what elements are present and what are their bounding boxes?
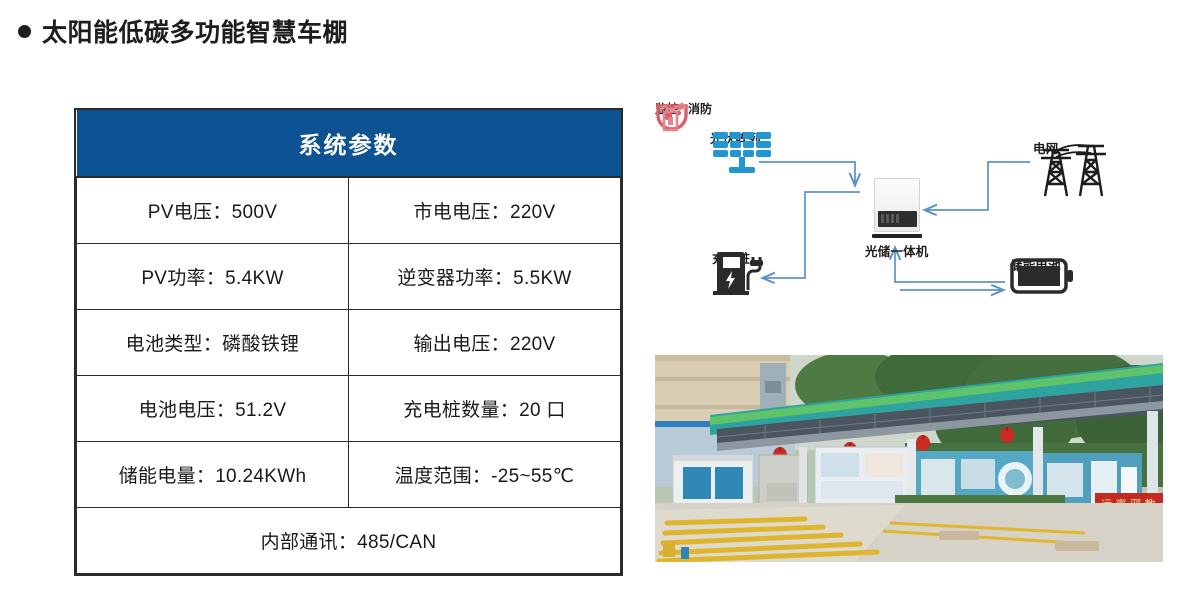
battery-icon xyxy=(1010,255,1076,297)
diagram-label-inverter: 光储一体机 xyxy=(865,241,929,260)
diagram-node-grid: 电网 xyxy=(1033,138,1058,157)
spec-battery-voltage: 电池电压：51.2V xyxy=(77,376,349,442)
power-tower-icon xyxy=(1033,138,1107,204)
diagram-node-solar-array: 光伏阵列 xyxy=(710,128,761,147)
carport-photo: 远 离 邪 教 xyxy=(655,355,1163,562)
system-architecture-diagram: 光伏阵列 监控 消防 xyxy=(655,100,1165,345)
table-header-title: 系统参数 xyxy=(77,110,621,177)
hybrid-inverter-icon xyxy=(874,178,920,232)
filled-circle-bullet-icon xyxy=(18,25,31,38)
ev-charging-pile-icon xyxy=(712,248,766,298)
spec-grid-voltage: 市电电压：220V xyxy=(349,177,621,244)
system-parameters-table: 系统参数 PV电压：500V 市电电压：220V PV功率：5.4KW 逆变器功… xyxy=(74,108,623,576)
table-row: 储能电量：10.24KWh 温度范围：-25~55℃ xyxy=(77,442,621,508)
inverter-display xyxy=(878,211,917,227)
diagram-node-inverter: 光储一体机 xyxy=(865,178,929,260)
page-title-text: 太阳能低碳多功能智慧车棚 xyxy=(42,13,348,49)
table-row: PV功率：5.4KW 逆变器功率：5.5KW xyxy=(77,244,621,310)
page-title: 太阳能低碳多功能智慧车棚 xyxy=(18,13,348,49)
table-row: 电池类型：磷酸铁锂 输出电压：220V xyxy=(77,310,621,376)
spec-temperature-range: 温度范围：-25~55℃ xyxy=(349,442,621,508)
spec-pv-voltage: PV电压：500V xyxy=(77,177,349,244)
spec-battery-type: 电池类型：磷酸铁锂 xyxy=(77,310,349,376)
table-row: 内部通讯：485/CAN xyxy=(77,508,621,574)
spec-output-voltage: 输出电压：220V xyxy=(349,310,621,376)
solar-panel-icon xyxy=(710,128,774,176)
spec-pv-power: PV功率：5.4KW xyxy=(77,244,349,310)
spec-internal-communication: 内部通讯：485/CAN xyxy=(77,508,621,574)
diagram-node-charging-pile: 充电桩 xyxy=(712,248,750,267)
fire-extinguisher-icon xyxy=(655,100,687,133)
spec-storage-capacity: 储能电量：10.24KWh xyxy=(77,442,349,508)
table-row: PV电压：500V 市电电压：220V xyxy=(77,177,621,244)
carport-photo-image: 远 离 邪 教 xyxy=(655,355,1163,562)
inverter-base xyxy=(872,234,922,238)
spec-charger-count: 充电桩数量：20 口 xyxy=(349,376,621,442)
table-header-row: 系统参数 xyxy=(77,110,621,177)
spec-inverter-power: 逆变器功率：5.5KW xyxy=(349,244,621,310)
table-row: 电池电压：51.2V 充电桩数量：20 口 xyxy=(77,376,621,442)
diagram-node-battery: 储能电池 xyxy=(1010,255,1061,274)
